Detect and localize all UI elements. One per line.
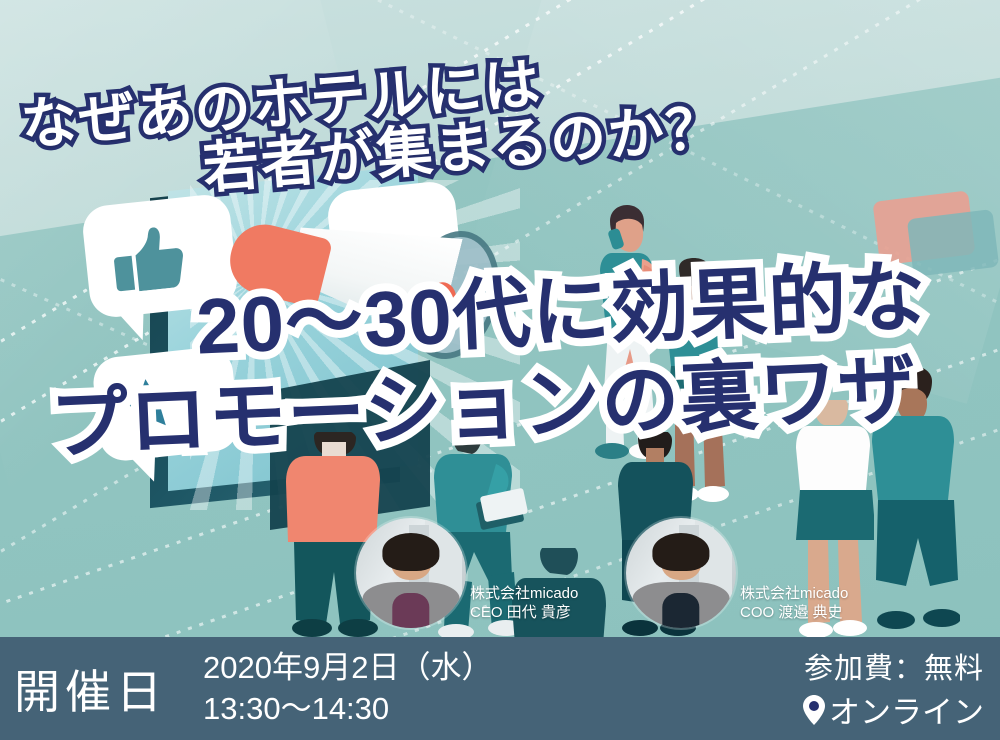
speaker-company-coo: 株式会社micado bbox=[740, 584, 848, 603]
footer-label-date: 開催日 bbox=[14, 656, 167, 722]
speaker-company-ceo: 株式会社micado bbox=[470, 584, 578, 603]
speaker-photo-ceo bbox=[356, 518, 466, 628]
person-teal-pants-right bbox=[864, 368, 960, 638]
flat-illustration bbox=[0, 0, 1000, 740]
footer-datetime: 2020年9月2日（水） 13:30～14:30 bbox=[203, 648, 492, 729]
footer-date-value: 2020年9月2日（水） bbox=[203, 648, 492, 688]
card-decor-teal bbox=[907, 209, 999, 277]
speaker-text-coo: 株式会社micado COO 渡邉 典史 bbox=[740, 584, 848, 628]
footer-fee: 参加費：無料 bbox=[803, 645, 984, 687]
footer-place-row: オンライン bbox=[803, 687, 984, 732]
speaker-card-ceo: 株式会社micado CEO 田代 貴彦 bbox=[356, 518, 578, 628]
webinar-banner: なぜあのホテルには 若者が集まるのか？ 20～30代に効果的な プロモーションの… bbox=[0, 0, 1000, 740]
speaker-card-coo: 株式会社micado COO 渡邉 典史 bbox=[626, 518, 848, 628]
footer-right-group: 参加費：無料 オンライン bbox=[803, 645, 984, 732]
footer-time-value: 13:30～14:30 bbox=[203, 689, 492, 729]
speaker-text-ceo: 株式会社micado CEO 田代 貴彦 bbox=[470, 584, 578, 628]
megaphone-illustration bbox=[230, 212, 480, 382]
speaker-photo-coo bbox=[626, 518, 736, 628]
star-icon bbox=[117, 373, 179, 435]
footer-place-value: オンライン bbox=[829, 687, 984, 732]
footer-bar: 開催日 2020年9月2日（水） 13:30～14:30 参加費：無料 オンライ… bbox=[0, 637, 1000, 740]
thumbs-up-icon bbox=[107, 224, 191, 294]
map-pin-icon bbox=[803, 695, 825, 725]
speaker-role-coo: COO 渡邉 典史 bbox=[740, 603, 848, 622]
speaker-role-ceo: CEO 田代 貴彦 bbox=[470, 603, 578, 622]
